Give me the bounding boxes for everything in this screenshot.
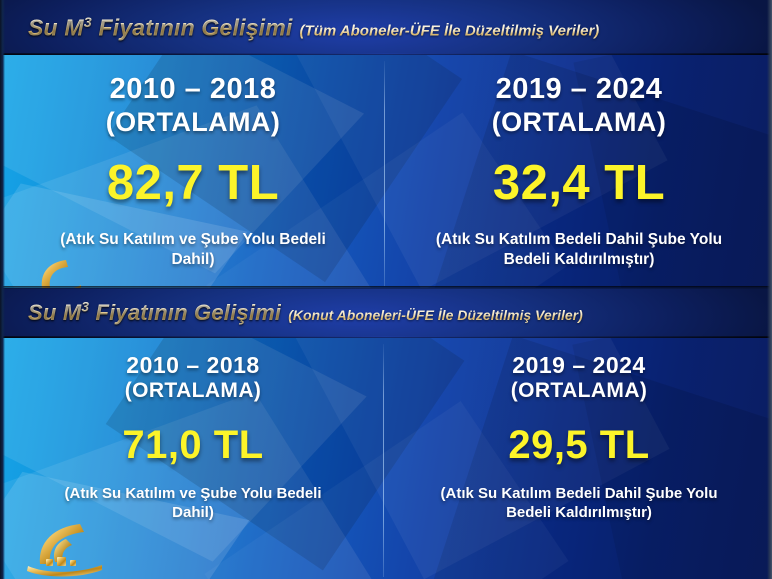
section-body-tum-aboneler: 2010 – 2018 (ORTALAMA) 82,7 TL (Atık Su … xyxy=(0,55,772,288)
header-title-rest: Fiyatının Gelişimi xyxy=(89,300,281,325)
columns-container: 2010 – 2018 (ORTALAMA) 71,0 TL (Atık Su … xyxy=(0,338,772,579)
section-body-konut-aboneleri: 2010 – 2018 (ORTALAMA) 71,0 TL (Atık Su … xyxy=(0,338,772,579)
stat-column-2019-2024: 2019 – 2024 (ORTALAMA) 32,4 TL (Atık Su … xyxy=(386,55,772,288)
price-value: 82,7 TL xyxy=(107,159,279,208)
header-title-superscript: 3 xyxy=(84,14,92,30)
header-title-main: Su M xyxy=(28,14,84,40)
section-header-tum-aboneler: Su M3 Fiyatının Gelişimi (Tüm Aboneler-Ü… xyxy=(0,0,772,55)
header-title-main: Su M xyxy=(28,300,81,325)
price-value: 29,5 TL xyxy=(508,425,649,465)
header-title-rest: Fiyatının Gelişimi xyxy=(92,14,293,40)
section-header-konut-aboneleri: Su M3 Fiyatının Gelişimi (Konut Aboneler… xyxy=(0,288,772,338)
year-range: 2019 – 2024 xyxy=(512,352,645,378)
stat-column-2019-2024: 2019 – 2024 (ORTALAMA) 29,5 TL (Atık Su … xyxy=(386,338,772,579)
price-note: (Atık Su Katılım ve Şube Yolu Bedeli Dah… xyxy=(43,485,343,523)
year-range: 2010 – 2018 xyxy=(126,352,259,378)
header-inner: Su M3 Fiyatının Gelişimi (Konut Aboneler… xyxy=(28,300,583,326)
price-note: (Atık Su Katılım Bedeli Dahil Şube Yolu … xyxy=(429,230,729,269)
columns-container: 2010 – 2018 (ORTALAMA) 82,7 TL (Atık Su … xyxy=(0,55,772,288)
price-note: (Atık Su Katılım Bedeli Dahil Şube Yolu … xyxy=(429,485,729,523)
header-subtitle: (Tüm Aboneler-ÜFE İle Düzeltilmiş Verile… xyxy=(300,22,600,39)
header-title: Su M3 Fiyatının Gelişimi xyxy=(28,300,281,326)
header-title-superscript: 3 xyxy=(81,300,89,315)
stat-column-2010-2018: 2010 – 2018 (ORTALAMA) 82,7 TL (Atık Su … xyxy=(0,55,386,288)
header-subtitle: (Konut Aboneleri-ÜFE İle Düzeltilmiş Ver… xyxy=(288,307,583,323)
section-konut-aboneleri: Su M3 Fiyatının Gelişimi (Konut Aboneler… xyxy=(0,288,772,579)
header-title: Su M3 Fiyatının Gelişimi xyxy=(28,14,293,41)
average-label: (ORTALAMA) xyxy=(511,379,648,403)
price-value: 71,0 TL xyxy=(122,425,263,465)
average-label: (ORTALAMA) xyxy=(492,107,666,137)
stat-column-2010-2018: 2010 – 2018 (ORTALAMA) 71,0 TL (Atık Su … xyxy=(0,338,386,579)
year-range: 2010 – 2018 xyxy=(110,73,277,106)
infographic-slide: Su M3 Fiyatının Gelişimi (Tüm Aboneler-Ü… xyxy=(0,0,772,579)
year-range: 2019 – 2024 xyxy=(496,73,663,106)
price-value: 32,4 TL xyxy=(493,159,665,208)
price-note: (Atık Su Katılım ve Şube Yolu Bedeli Dah… xyxy=(43,230,343,269)
section-tum-aboneler: Su M3 Fiyatının Gelişimi (Tüm Aboneler-Ü… xyxy=(0,0,772,288)
header-inner: Su M3 Fiyatının Gelişimi (Tüm Aboneler-Ü… xyxy=(28,14,599,41)
average-label: (ORTALAMA) xyxy=(106,107,280,137)
average-label: (ORTALAMA) xyxy=(125,379,262,403)
